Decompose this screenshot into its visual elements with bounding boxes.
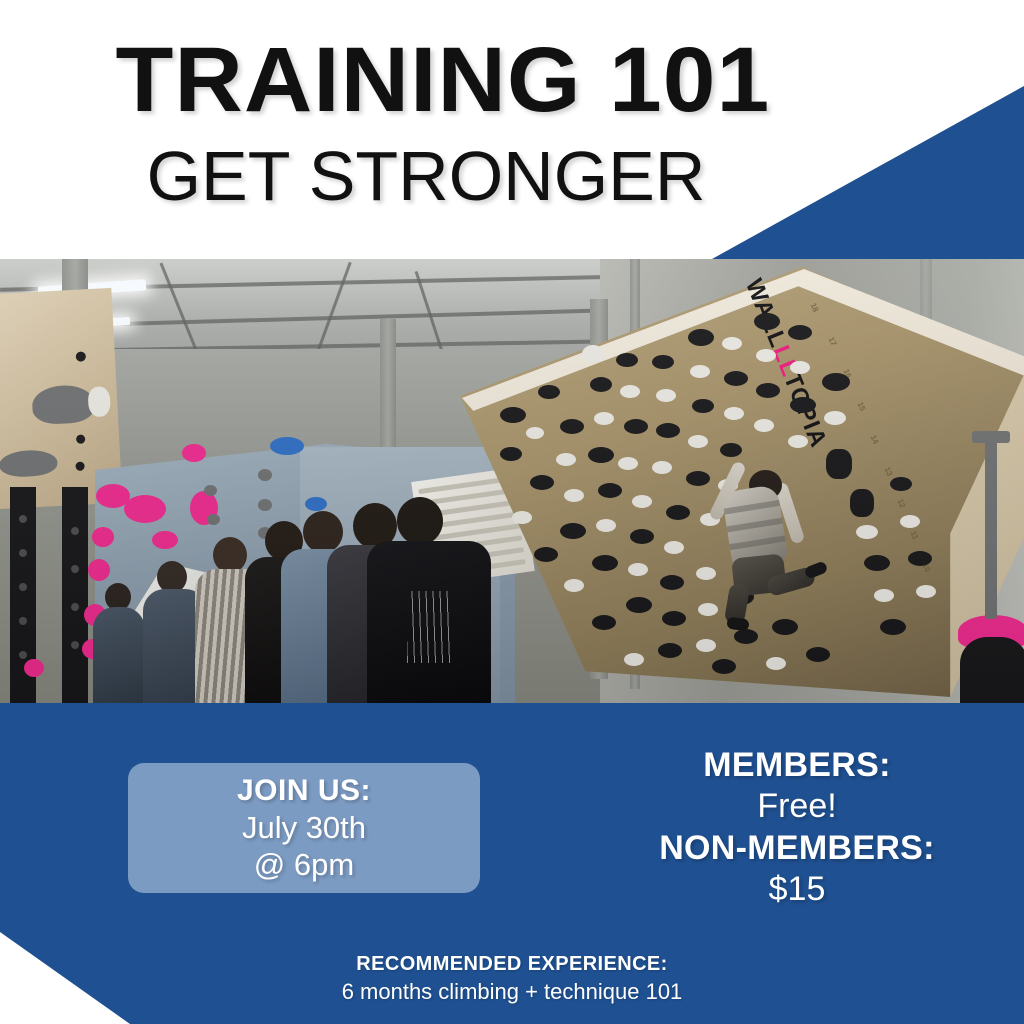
climbing-hold: [766, 657, 786, 670]
climbing-hold: [652, 355, 674, 369]
climbing-hold: [618, 457, 638, 470]
climbing-hold: [534, 547, 558, 562]
climbing-hold: [31, 384, 95, 425]
climbing-hold: [258, 469, 272, 481]
climbing-hold: [822, 373, 850, 391]
climbing-hold: [790, 361, 810, 374]
climbing-hold: [724, 407, 744, 420]
climbing-hold: [564, 579, 584, 592]
climbing-hold: [734, 629, 758, 644]
climbing-hold: [526, 427, 544, 439]
poster-subtitle: GET STRONGER: [96, 140, 756, 214]
climbing-hold: [620, 385, 640, 398]
hanging-pole: [985, 439, 997, 619]
climbing-hold: [626, 597, 652, 613]
climber-shoe: [804, 560, 829, 579]
climbing-hold: [688, 435, 708, 448]
climbing-hold: [656, 389, 676, 402]
climbing-hold: [596, 519, 616, 532]
bolt-hole: [75, 462, 84, 471]
gym-photo: Urban Plastic ♾ AGRIPP WALLLLTOPIA 18 17…: [0, 259, 1024, 703]
shirt-stripe: [724, 500, 780, 515]
climbing-hold: [632, 495, 652, 508]
climbing-hold: [538, 385, 560, 399]
climbing-hold: [724, 371, 748, 386]
join-us-heading: JOIN US:: [237, 773, 371, 808]
climbing-hold: [656, 423, 680, 438]
climbing-hold: [592, 555, 618, 571]
climbing-hold: [560, 419, 584, 434]
climbing-hold: [756, 349, 776, 362]
climbing-hold: [500, 447, 522, 461]
climbing-hold: [660, 575, 684, 590]
climbing-hold: [630, 529, 654, 544]
climbing-hold: [182, 444, 206, 462]
climbing-hold: [662, 611, 686, 626]
climbing-hold: [582, 345, 604, 363]
climbing-hold: [0, 449, 58, 478]
bolt-hole: [76, 434, 85, 443]
climbing-hold: [530, 475, 554, 490]
climbing-hold: [270, 437, 304, 455]
climbing-hold: [204, 485, 217, 496]
climbing-hold: [696, 639, 716, 652]
shirt-stripe: [729, 535, 785, 550]
climbing-hold: [666, 505, 690, 520]
recommended-experience-label: RECOMMENDED EXPERIENCE:: [0, 951, 1024, 977]
climbing-hold: [628, 563, 648, 576]
climbing-hold: [556, 453, 576, 466]
audience-group: [95, 523, 455, 703]
members-label: MEMBERS:: [570, 745, 1024, 786]
climbing-hold: [874, 589, 894, 602]
climbing-hold: [124, 495, 166, 523]
rig-hole: [71, 527, 79, 535]
climbing-hold: [592, 615, 616, 630]
climbing-hold: [512, 511, 532, 524]
recommended-experience-block: RECOMMENDED EXPERIENCE: 6 months climbin…: [0, 951, 1024, 1006]
nonmembers-price: $15: [570, 869, 1024, 910]
climbing-hold: [900, 515, 920, 528]
recommended-experience-detail: 6 months climbing + technique 101: [0, 977, 1024, 1006]
join-us-date: July 30th: [242, 809, 366, 846]
climbing-hold: [824, 411, 846, 425]
climbing-hold: [790, 397, 816, 413]
rig-hole: [71, 565, 79, 573]
rig-hole: [19, 651, 27, 659]
climbing-hold: [594, 412, 614, 425]
training-101-poster: TRAINING 101 GET STRONGER: [0, 0, 1024, 1024]
climbing-hold: [590, 377, 612, 392]
climbing-hold: [616, 353, 638, 367]
climbing-hold: [624, 419, 648, 434]
climber-figure: [705, 452, 825, 627]
climbing-hold: [754, 313, 780, 330]
rig-hole: [19, 617, 27, 625]
climbing-hold: [826, 449, 852, 479]
climbing-hold: [24, 659, 44, 677]
climbing-hold: [916, 585, 936, 598]
overhang-spray-wall: WALLLLTOPIA 18 17 16 15 14 13 12 11 10: [460, 267, 1024, 697]
climbing-hold: [598, 483, 622, 498]
climbing-hold: [624, 653, 644, 666]
climbing-hold: [692, 399, 714, 413]
climbing-hold: [688, 329, 714, 346]
rig-hole: [19, 515, 27, 523]
climbing-hold: [908, 551, 932, 566]
climbing-hold: [652, 461, 672, 474]
tshirt-graphic: [407, 591, 453, 663]
climbing-hold: [880, 619, 906, 635]
rig-hole: [19, 583, 27, 591]
poster-footer: JOIN US: July 30th @ 6pm MEMBERS: Free! …: [0, 703, 1024, 1024]
climbing-hold: [754, 419, 774, 432]
climbing-hold: [564, 489, 584, 502]
climbing-hold: [856, 525, 878, 539]
climbing-hold: [850, 489, 874, 517]
climbing-hold: [788, 435, 808, 448]
climbing-hold: [806, 647, 830, 662]
climbing-hold: [658, 643, 682, 658]
climbing-hold: [500, 407, 526, 423]
climbing-hold: [756, 383, 780, 398]
rig-hole: [71, 603, 79, 611]
spectator-body: [93, 607, 145, 703]
join-us-box: JOIN US: July 30th @ 6pm: [128, 763, 480, 893]
climbing-hold: [712, 659, 736, 674]
poster-title: TRAINING 101: [36, 34, 850, 128]
climbing-hold: [560, 523, 586, 539]
climbing-hold: [690, 365, 710, 378]
rig-hole: [19, 549, 27, 557]
spectator-head: [303, 511, 343, 553]
climbing-hold: [890, 477, 912, 491]
climbing-hold: [588, 447, 614, 463]
climbing-hold: [258, 499, 272, 511]
climbing-hold: [788, 325, 812, 340]
spectator-head: [213, 537, 247, 573]
climbing-hold: [305, 497, 327, 511]
climbing-hold: [722, 337, 742, 350]
hanging-pole-top: [972, 431, 1010, 443]
rig-hole: [71, 641, 79, 649]
members-price: Free!: [570, 786, 1024, 827]
spectator-head: [397, 497, 443, 545]
nonmembers-label: NON-MEMBERS:: [570, 828, 1024, 869]
poster-header: TRAINING 101 GET STRONGER: [0, 0, 1024, 259]
rig-post: [62, 487, 88, 703]
pricing-block: MEMBERS: Free! NON-MEMBERS: $15: [570, 745, 1024, 911]
climbing-hold: [960, 637, 1024, 703]
join-us-time: @ 6pm: [254, 846, 354, 883]
bolt-hole: [76, 351, 87, 362]
climbing-hold: [864, 555, 890, 571]
climbing-hold: [87, 386, 111, 417]
climbing-hold: [664, 541, 684, 554]
shirt-stripe: [727, 518, 783, 533]
